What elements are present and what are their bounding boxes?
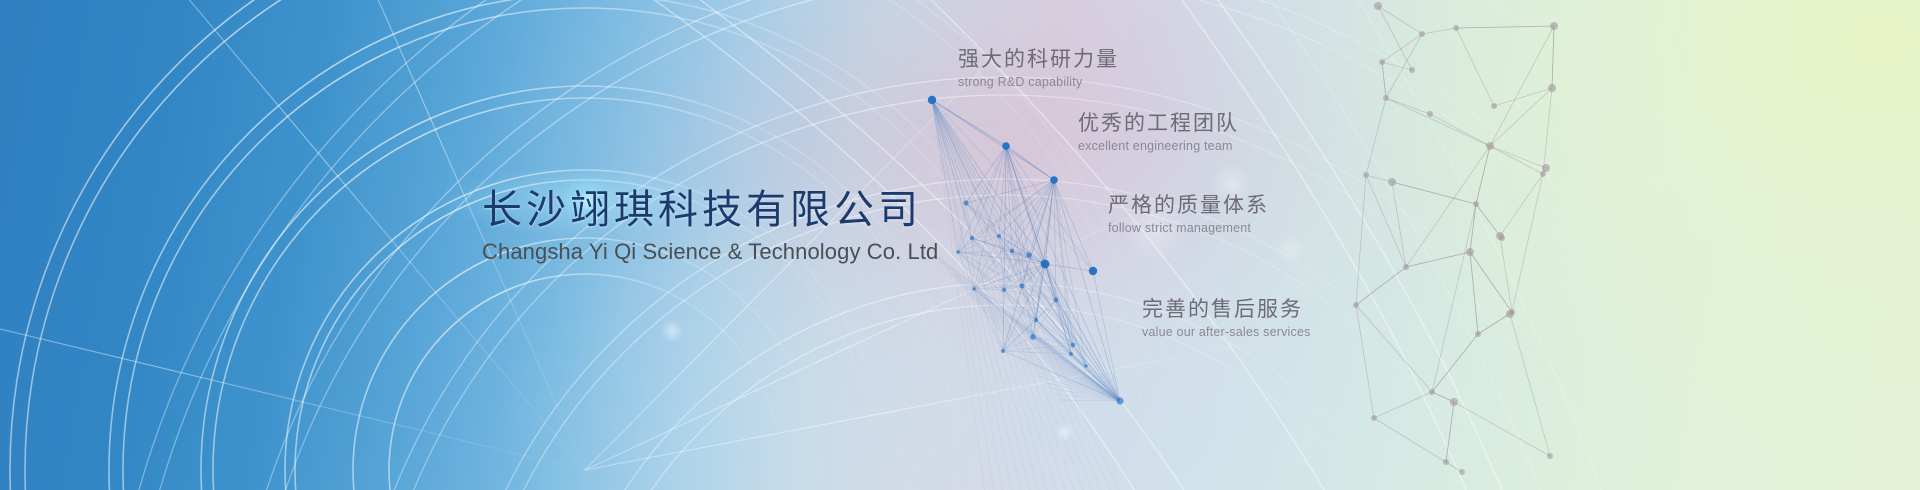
feature-label-quality-en: follow strict management: [1108, 221, 1269, 236]
company-name-english: Changsha Yi Qi Science & Technology Co. …: [482, 238, 1002, 267]
feature-label-rd-cn: 强大的科研力量: [958, 46, 1119, 72]
feature-label-quality: 严格的质量体系 follow strict management: [1108, 192, 1269, 236]
feature-label-service-cn: 完善的售后服务: [1142, 296, 1311, 322]
company-title-block: 长沙翊琪科技有限公司 Changsha Yi Qi Science & Tech…: [482, 185, 1002, 267]
hero-banner: 长沙翊琪科技有限公司 Changsha Yi Qi Science & Tech…: [0, 0, 1920, 490]
company-name-chinese: 长沙翊琪科技有限公司: [482, 185, 1002, 235]
feature-label-rd-en: strong R&D capability: [958, 75, 1119, 90]
feature-label-service: 完善的售后服务 value our after-sales services: [1142, 296, 1311, 340]
feature-label-service-en: value our after-sales services: [1142, 325, 1311, 340]
feature-label-team-cn: 优秀的工程团队: [1078, 110, 1239, 136]
feature-label-team-en: excellent engineering team: [1078, 139, 1239, 154]
feature-label-quality-cn: 严格的质量体系: [1108, 192, 1269, 218]
feature-label-rd: 强大的科研力量 strong R&D capability: [958, 46, 1119, 90]
feature-label-team: 优秀的工程团队 excellent engineering team: [1078, 110, 1239, 154]
